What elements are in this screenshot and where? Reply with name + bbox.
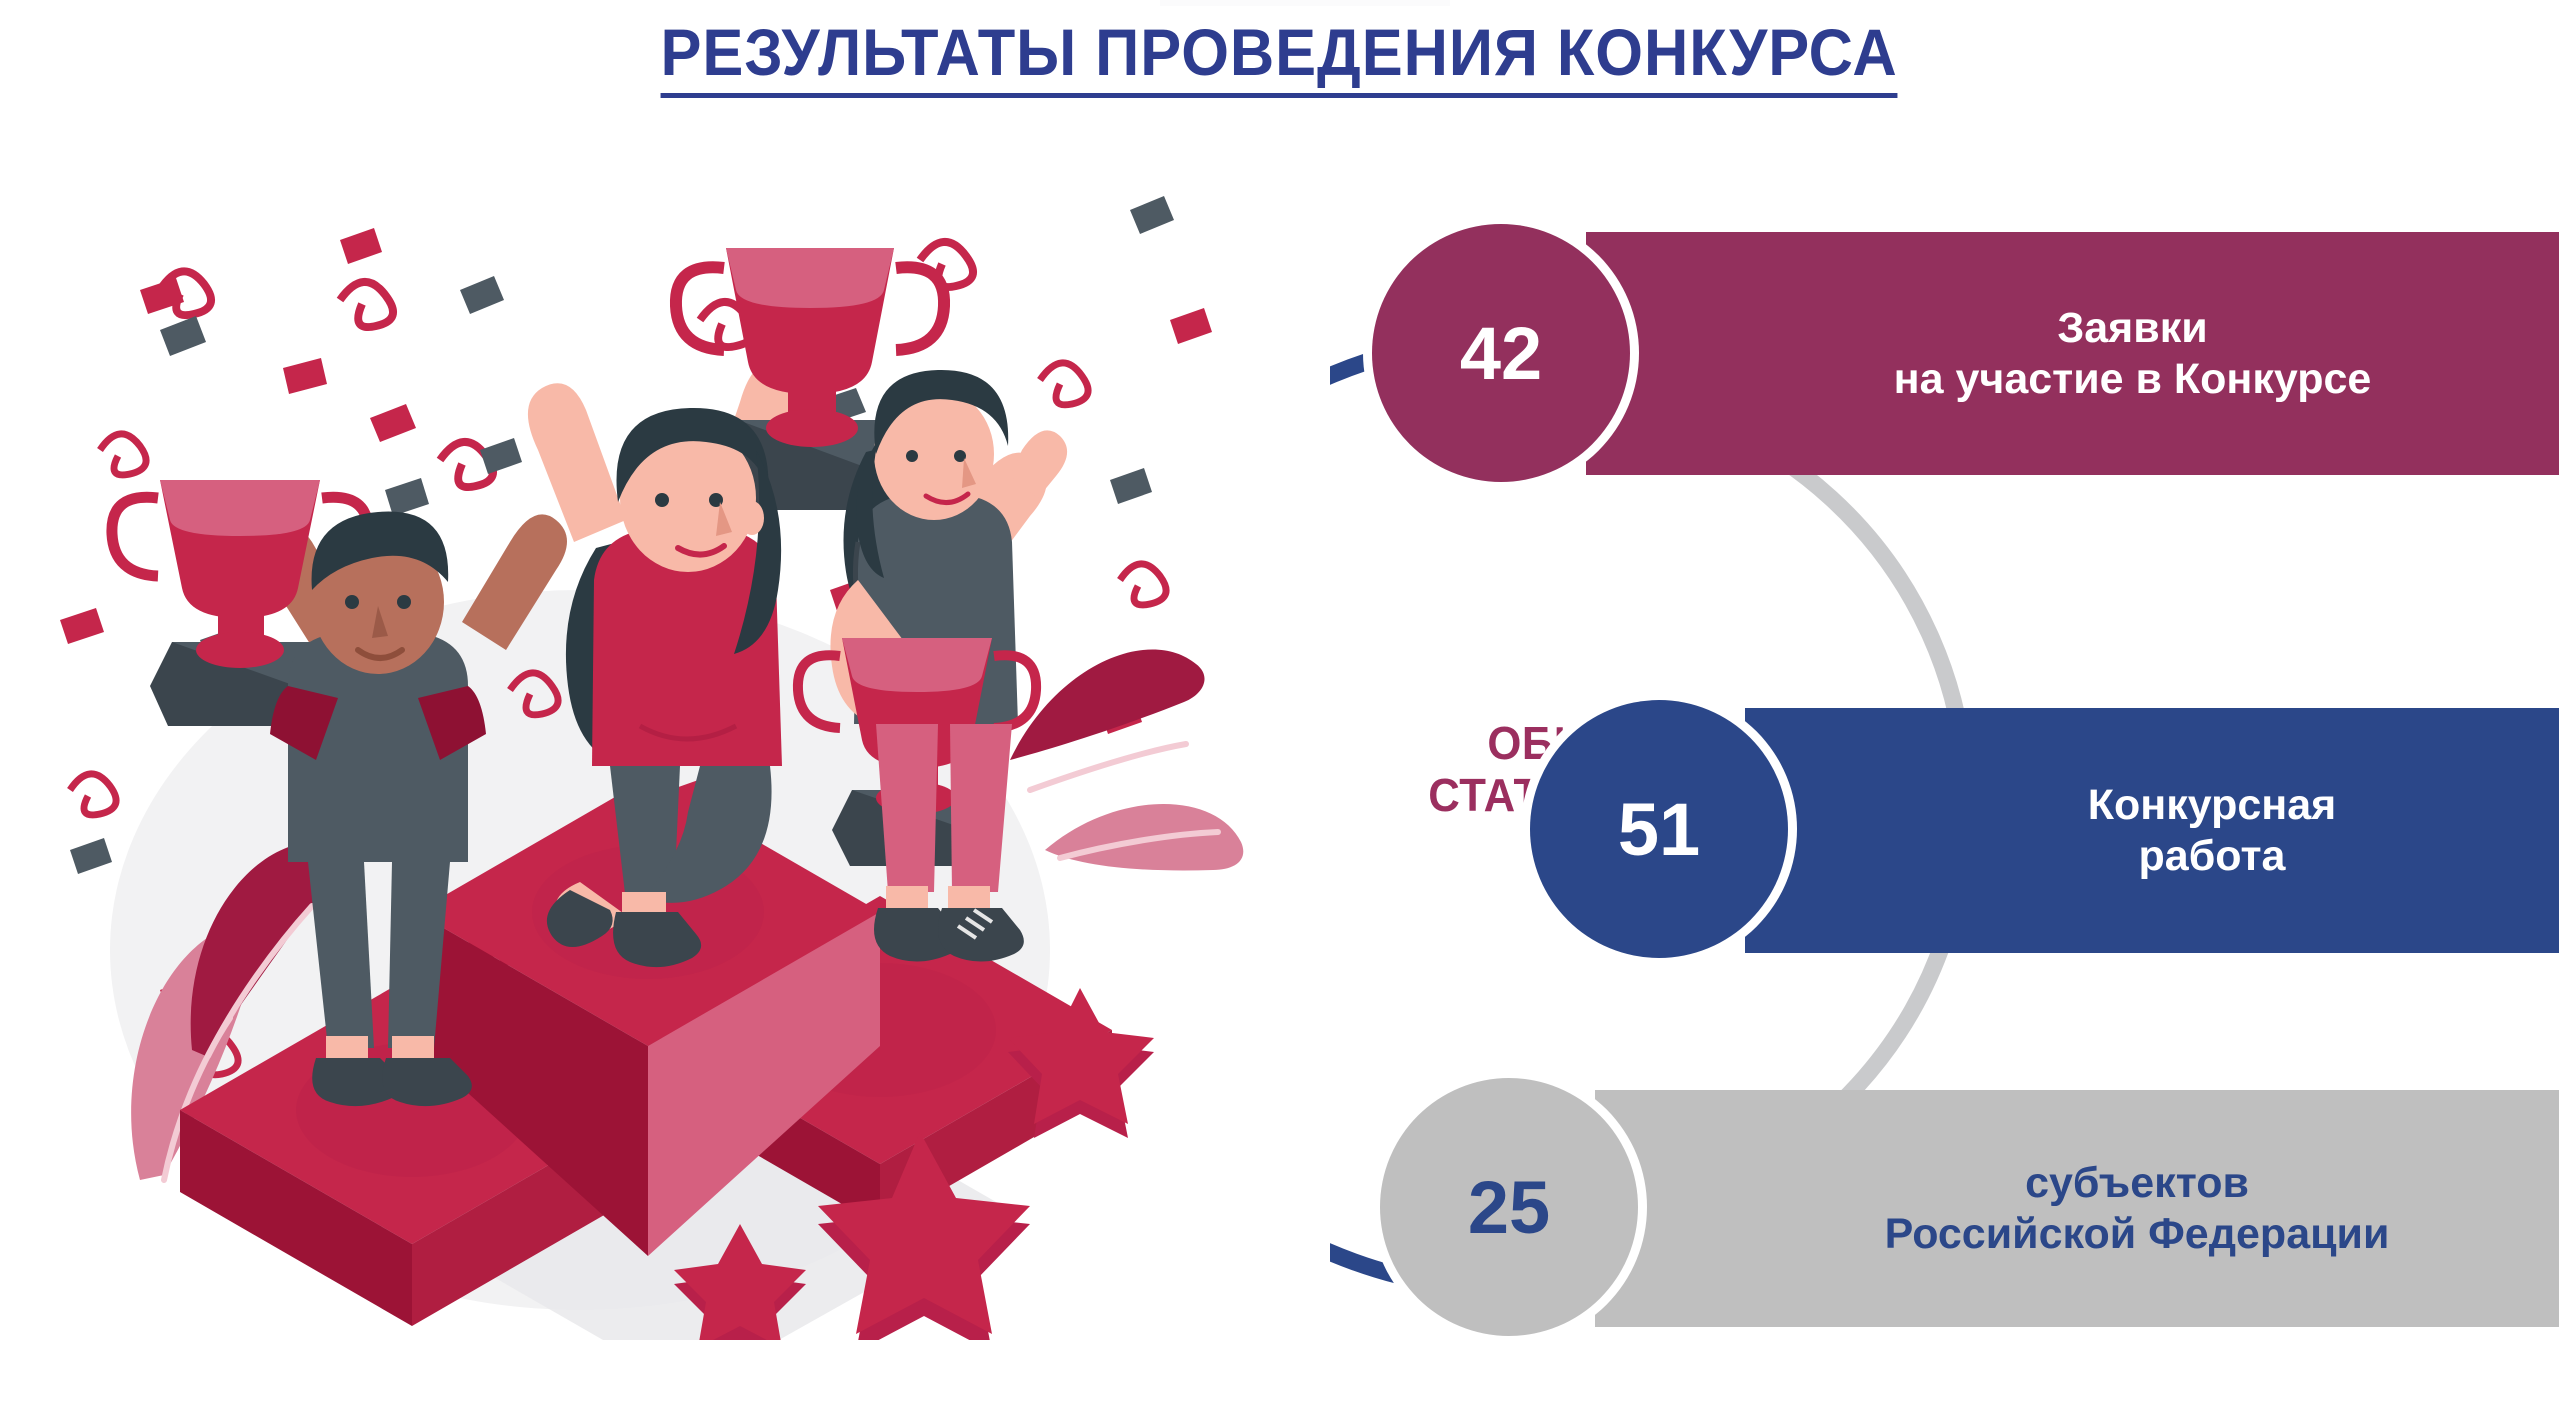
stat-bar-applications[interactable]: Заявки на участие в Конкурсе bbox=[1586, 232, 2559, 475]
page-title-container: РЕЗУЛЬТАТЫ ПРОВЕДЕНИЯ КОНКУРСА bbox=[0, 18, 2559, 98]
statistics-infographic: ОБЩАЯ СТАТИСТИКА Заявки на участие в Кон… bbox=[1330, 300, 2559, 1360]
stat-value-applications[interactable]: 42 bbox=[1372, 224, 1630, 482]
stat-value-regions[interactable]: 25 bbox=[1380, 1078, 1638, 1336]
stat-value-competition-works[interactable]: 51 bbox=[1530, 700, 1788, 958]
page-title: РЕЗУЛЬТАТЫ ПРОВЕДЕНИЯ КОНКУРСА bbox=[661, 18, 1898, 98]
celebration-illustration bbox=[40, 150, 1250, 1340]
slide-root: РЕЗУЛЬТАТЫ ПРОВЕДЕНИЯ КОНКУРСА bbox=[0, 0, 2559, 1411]
leaf-decor-right bbox=[1010, 649, 1243, 870]
top-accent-stub bbox=[1160, 0, 1450, 6]
stat-bar-regions[interactable]: субъектов Российской Федерации bbox=[1595, 1090, 2559, 1327]
stat-bar-competition-works[interactable]: Конкурсная работа bbox=[1745, 708, 2559, 953]
